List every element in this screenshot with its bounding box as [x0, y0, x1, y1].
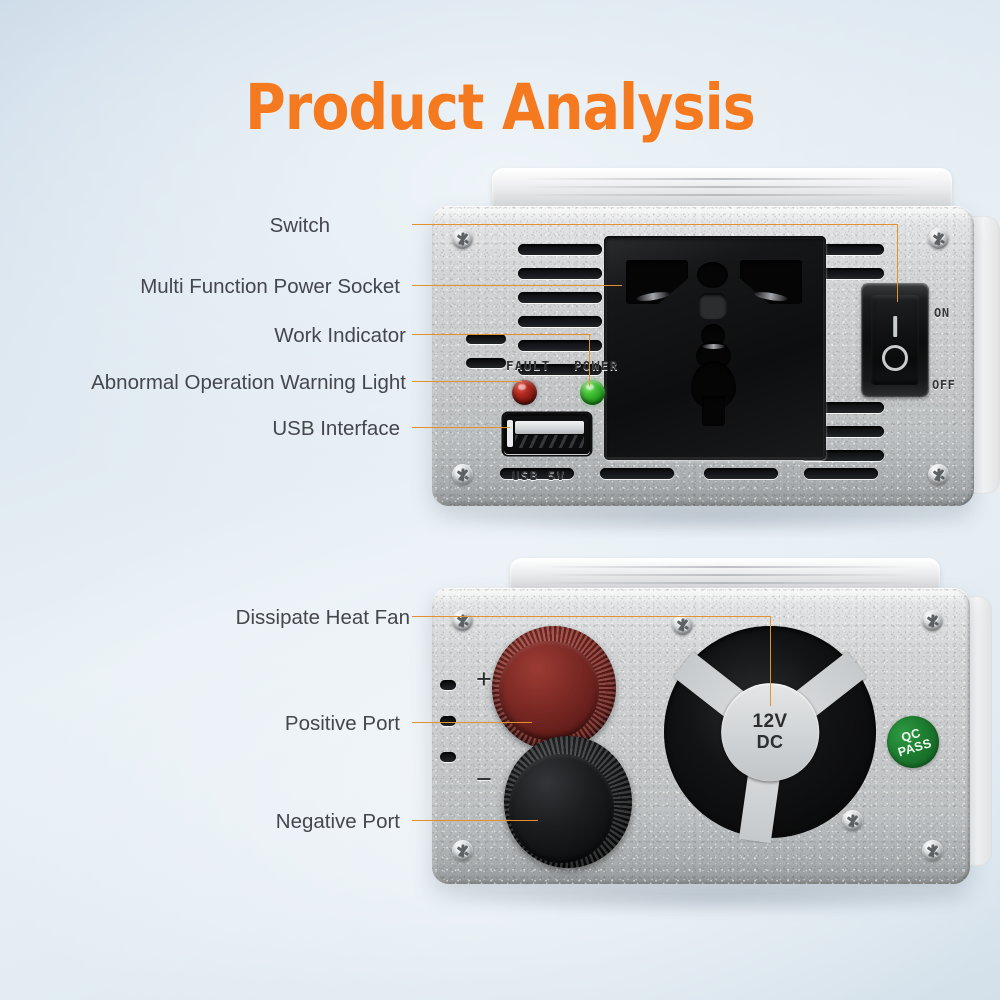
callout-label-switch: Switch	[270, 214, 330, 238]
power-led	[580, 380, 605, 405]
leader-line-switch-drop	[897, 224, 898, 302]
socket-earth-gleam	[702, 344, 725, 349]
leader-line-work-indicator-drop	[589, 334, 590, 386]
power-switch[interactable]	[862, 284, 928, 396]
usb-pins	[515, 435, 584, 449]
vent-slot	[466, 334, 506, 344]
positive-sign: +	[476, 666, 492, 693]
negative-sign: −	[476, 766, 492, 793]
power-led-label: POWER	[574, 358, 619, 373]
leader-line-usb	[412, 427, 510, 428]
screw-bottom-left	[452, 464, 473, 485]
vent-slot	[466, 358, 506, 368]
leader-line-warning-light	[412, 381, 522, 382]
callout-label-positive: Positive Port	[285, 712, 400, 736]
multi-function-power-socket[interactable]	[604, 236, 826, 460]
rear-faceplate: 12V DC QC PASS + −	[432, 588, 970, 884]
callout-label-negative: Negative Port	[276, 810, 400, 834]
negative-terminal[interactable]	[504, 736, 632, 868]
screw-top-left	[452, 610, 473, 631]
screw-bottom-right	[928, 464, 949, 485]
socket-center-hole	[697, 262, 728, 288]
vent-slot	[518, 244, 602, 255]
leader-line-positive	[412, 722, 532, 723]
vent-slot	[600, 468, 674, 479]
socket-earth-stem	[702, 396, 725, 426]
leader-line-switch	[412, 224, 898, 225]
page-title: Product Analysis	[60, 76, 940, 139]
screw-fan-bottom	[842, 810, 863, 831]
fan-current-type-label: DC	[757, 733, 784, 752]
rear-panel-device: 12V DC QC PASS + −	[432, 570, 1000, 900]
fault-led-label: FAULT	[506, 358, 551, 373]
vent-slot	[518, 292, 602, 303]
leader-line-socket	[412, 285, 622, 286]
usb-tongue	[515, 421, 584, 434]
positive-terminal[interactable]	[492, 626, 616, 750]
qc-pass-sticker: QC PASS	[881, 710, 946, 775]
infographic-canvas: Product Analysis	[0, 0, 1000, 1000]
callout-label-fan: Dissipate Heat Fan	[236, 606, 410, 630]
callout-label-socket: Multi Function Power Socket	[140, 275, 400, 299]
switch-off-symbol-icon	[882, 345, 908, 371]
callout-label-work-indicator: Work Indicator	[274, 324, 406, 348]
leader-line-fan-drop	[770, 616, 771, 706]
negative-terminal-cap	[509, 754, 614, 862]
screw-top-left	[452, 228, 473, 249]
leader-line-work-indicator	[412, 334, 591, 335]
switch-on-label: ON	[934, 306, 950, 320]
rocker-key	[871, 295, 920, 385]
leader-line-fan	[412, 616, 771, 617]
callout-label-usb: USB Interface	[272, 417, 400, 441]
leader-line-negative	[412, 820, 538, 821]
socket-center-pad	[699, 293, 727, 319]
switch-off-label: OFF	[932, 378, 955, 392]
vent-slot	[704, 468, 778, 479]
callout-label-warning-light: Abnormal Operation Warning Light	[91, 371, 406, 395]
fault-led	[512, 380, 537, 405]
vent-slot	[518, 316, 602, 327]
positive-terminal-cap	[499, 641, 598, 740]
vent-slot	[518, 268, 602, 279]
front-faceplate: FAULT POWER USB 5V ON OFF	[432, 206, 974, 506]
screw-bottom-left	[452, 840, 473, 861]
fan-voltage-label: 12V	[752, 712, 787, 732]
screw-top-right	[922, 610, 943, 631]
vent-slot	[440, 680, 456, 690]
vent-slot	[440, 752, 456, 762]
usb-lip	[507, 420, 513, 446]
screw-bottom-right	[922, 840, 943, 861]
vent-slot	[440, 716, 456, 726]
usb-voltage-label: USB 5V	[512, 468, 566, 483]
switch-on-symbol-icon	[893, 316, 897, 337]
usb-interface-port[interactable]	[504, 414, 590, 454]
front-panel-device: FAULT POWER USB 5V ON OFF	[432, 198, 1000, 514]
screw-top-right	[928, 228, 949, 249]
vent-slot	[804, 468, 878, 479]
